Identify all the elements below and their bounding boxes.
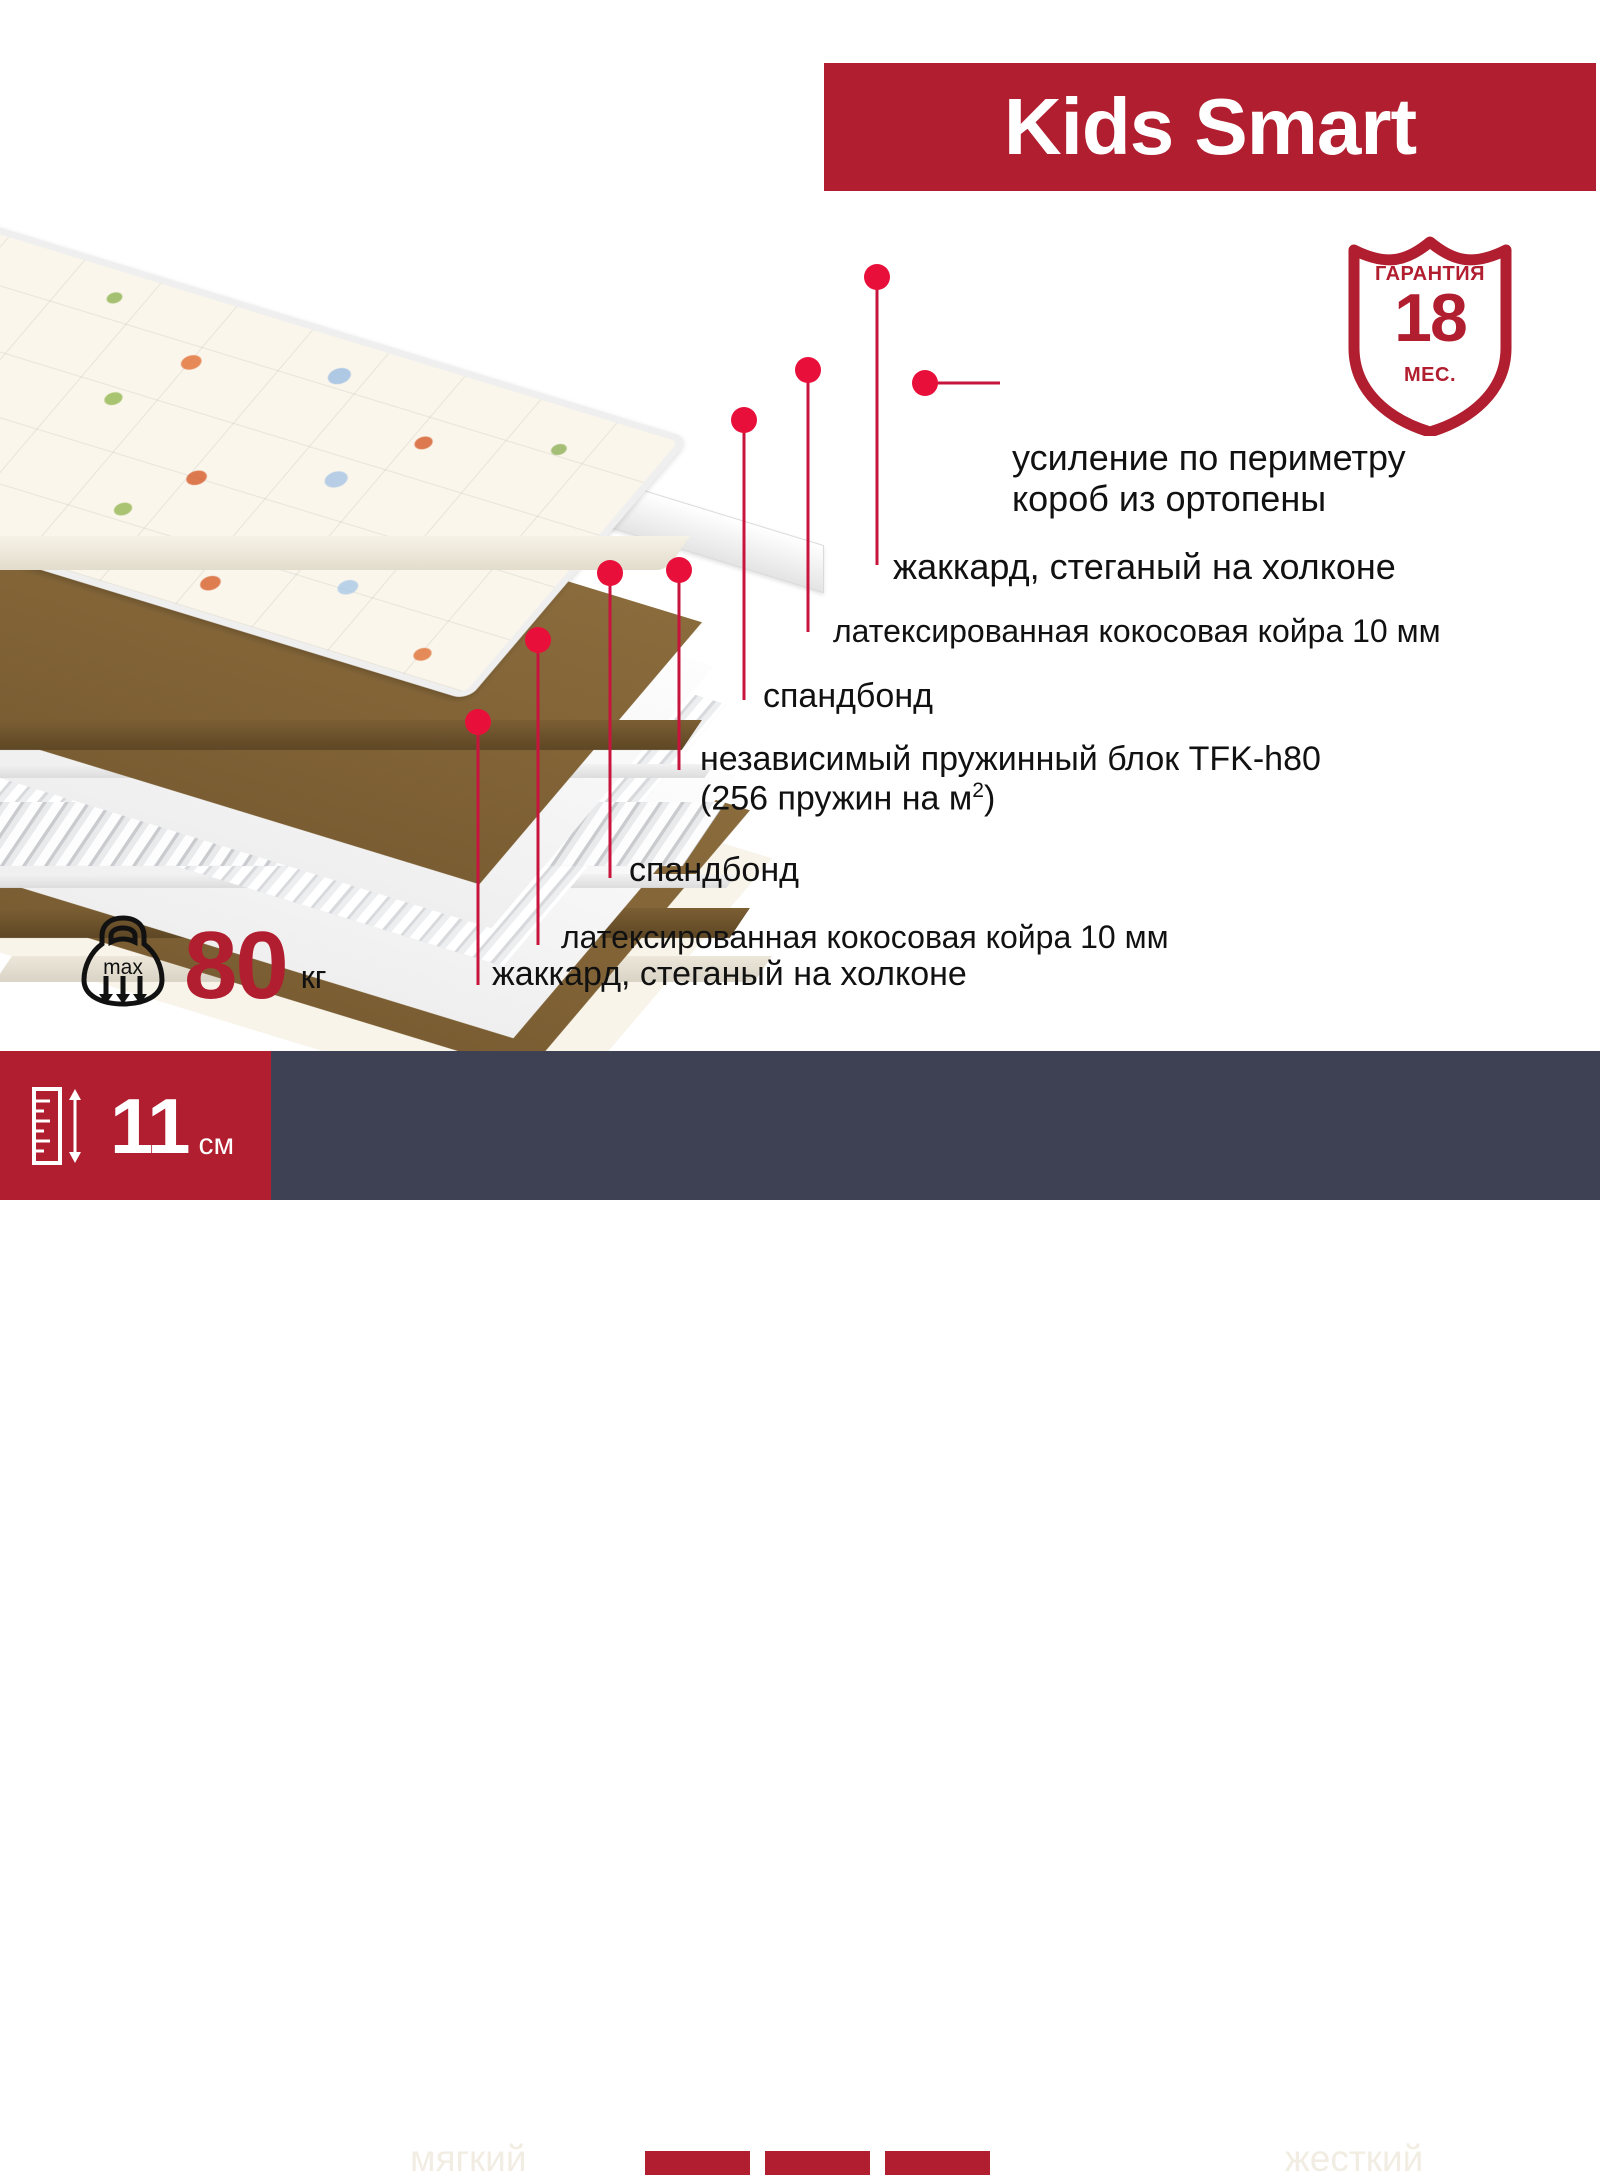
callout-spring-block-line2-post: ) xyxy=(984,779,995,817)
height-unit: см xyxy=(198,1128,234,1162)
ruler-icon xyxy=(32,1087,88,1165)
footer-bar: 11 см мягкий жесткий xyxy=(0,1051,1600,1200)
callout-jacquard-top: жаккард, стеганый на холконе xyxy=(893,546,1396,587)
firmness-segment-5 xyxy=(1125,2151,1230,2175)
callout-coir-bottom: латексированная кокосовая койра 10 мм xyxy=(561,919,1169,955)
height-block: 11 см xyxy=(0,1051,271,1200)
firmness-segment-1 xyxy=(645,2151,750,2175)
height-value: 11 xyxy=(110,1087,188,1165)
callout-spunbond-top: спандбонд xyxy=(763,677,933,716)
callout-spring-block-line2-pre: (256 пружин на м xyxy=(700,779,972,817)
kettlebell-max-label: max xyxy=(80,956,166,980)
firmness-firm-label: жесткий xyxy=(1285,2138,1423,2180)
callout-spring-block-superscript: 2 xyxy=(972,779,984,802)
title-banner: Kids Smart xyxy=(824,63,1596,191)
max-weight-block: max 80 кг xyxy=(80,912,326,1008)
firmness-segment-3 xyxy=(885,2151,990,2175)
max-weight-value: 80 xyxy=(184,925,287,1008)
callout-spunbond-bottom: спандбонд xyxy=(629,851,799,890)
callout-coir-top: латексированная кокосовая койра 10 мм xyxy=(833,613,1441,649)
warranty-unit: МЕС. xyxy=(1344,364,1516,387)
max-weight-unit: кг xyxy=(301,959,327,996)
firmness-segment-2 xyxy=(765,2151,870,2175)
callout-ortho-foam: усиление по периметру короб из ортопены xyxy=(1012,437,1406,519)
firmness-soft-label: мягкий xyxy=(410,2138,527,2180)
firmness-scale xyxy=(645,2151,1230,2175)
callout-spring-block: независимый пружинный блок TFK-h80(256 п… xyxy=(700,740,1321,818)
callout-spring-block-line1: независимый пружинный блок TFK-h80 xyxy=(700,740,1321,778)
page-title: Kids Smart xyxy=(1004,87,1416,167)
warranty-badge: ГАРАНТИЯ 18 МЕС. xyxy=(1344,236,1516,436)
firmness-segment-4 xyxy=(1005,2151,1110,2175)
kettlebell-icon: max xyxy=(80,912,166,1008)
warranty-value: 18 xyxy=(1344,284,1516,352)
callout-jacquard-bottom: жаккард, стеганый на холконе xyxy=(492,955,967,994)
